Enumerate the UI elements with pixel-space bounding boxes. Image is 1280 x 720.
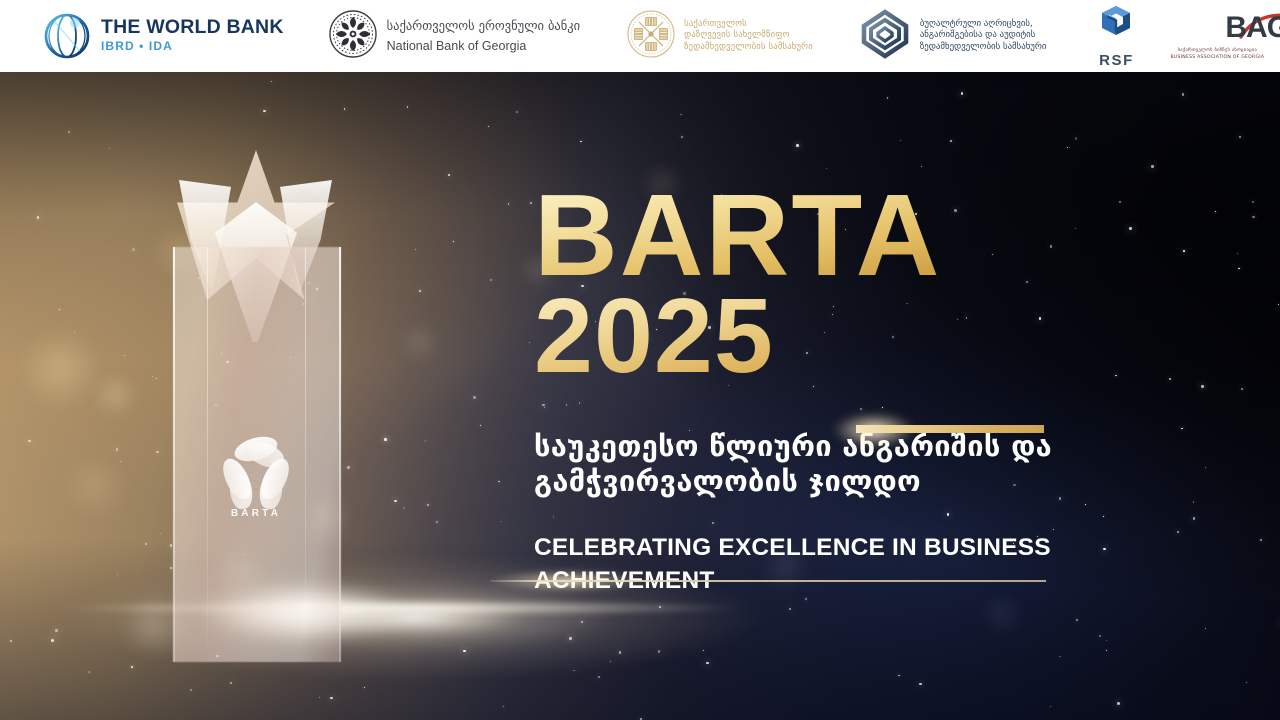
stacked-layers-icon: [859, 8, 911, 65]
globe-icon: [42, 11, 92, 61]
nbg-title-ka: საქართველოს ეროვნული ბანკი: [387, 18, 581, 33]
world-bank-subtitle: IBRD • IDA: [101, 39, 173, 53]
rosette-seal-icon: [328, 9, 378, 64]
section-divider: [490, 580, 1046, 582]
sarass-line-1: ბუღალტრული აღრიცხვის,: [920, 19, 1033, 29]
rsf-label: RSF: [1099, 52, 1134, 69]
bag-subtitle-ka: საქართველოს ბიზნეს ასოციაცია: [1178, 48, 1257, 53]
sponsor-logo-bar: THE WORLD BANK IBRD • IDA: [0, 0, 1280, 72]
hero-subtitle-ka-line-2: გამჭვირვალობის ჯილდო: [534, 464, 921, 498]
iss-text-block: საქართველოს დაზღვევის სახელმწიფო ზედამხე…: [684, 19, 813, 53]
trophy-facet-a: [207, 247, 208, 647]
hero-subtitle-ka: საუკეთესო წლიური ანგარიშის და გამჭვირვალ…: [534, 429, 1094, 500]
trophy-right-edge: [339, 247, 341, 662]
year-accent-rule: [856, 425, 1044, 433]
bag-subtitle-block: საქართველოს ბიზნეს ასოციაცია BUSINESS AS…: [1170, 48, 1264, 62]
hero-year: 2025: [534, 285, 1094, 389]
trophy-barta-emblem: BARTA: [217, 434, 295, 524]
blue-cube-icon: [1096, 4, 1136, 49]
sarass-line-2: ანგარიშგებისა და აუდიტის: [920, 30, 1035, 40]
logo-world-bank[interactable]: THE WORLD BANK IBRD • IDA: [42, 5, 284, 67]
emblem-petal-right-inner: [258, 472, 285, 511]
world-bank-title: THE WORLD BANK: [101, 16, 284, 38]
hero-banner: BARTA BARTA 2025 საუკეთესო წლიური ანგარი…: [0, 72, 1280, 720]
circular-emblem-icon: [626, 9, 676, 64]
bag-wordmark: BAG: [1225, 13, 1280, 43]
crystal-trophy: BARTA: [155, 142, 355, 662]
trophy-facet-b: [305, 247, 306, 647]
world-bank-text: THE WORLD BANK IBRD • IDA: [101, 18, 284, 54]
award-banner-screenshot: THE WORLD BANK IBRD • IDA: [0, 0, 1280, 720]
floor-light-streak: [0, 597, 900, 619]
iss-line-3: ზედამხედველობის სამსახური: [684, 42, 813, 52]
logo-insurance-supervision-service[interactable]: საქართველოს დაზღვევის სახელმწიფო ზედამხე…: [626, 5, 813, 67]
iss-line-1: საქართველოს: [684, 19, 747, 29]
emblem-petal-left-inner: [228, 472, 255, 511]
iss-line-2: დაზღვევის სახელმწიფო: [684, 30, 789, 40]
logo-accounting-supervision-service[interactable]: ბუღალტრული აღრიცხვის, ანგარიშგებისა და ა…: [859, 5, 1047, 67]
hero-title: BARTA: [534, 182, 1094, 289]
bag-subtitle-en: BUSINESS ASSOCIATION OF GEORGIA: [1170, 55, 1264, 60]
sarass-text-block: ბუღალტრული აღრიცხვის, ანგარიშგებისა და ა…: [920, 19, 1047, 53]
nbg-title-en: National Bank of Georgia: [387, 39, 527, 53]
hero-subtitle-en-line-1: CELEBRATING EXCELLENCE IN BUSINESS: [534, 534, 1051, 561]
logo-business-association-of-georgia[interactable]: BAG საქართველოს ბიზნეს ასოციაცია BUSINES…: [1170, 5, 1264, 67]
trophy-left-edge: [173, 247, 175, 662]
hero-subtitle-ka-line-1: საუკეთესო წლიური ანგარიშის და: [534, 429, 1052, 463]
nbg-text-block: საქართველოს ეროვნული ბანკი National Bank…: [387, 16, 581, 56]
logo-rsf[interactable]: RSF: [1096, 5, 1136, 67]
logo-national-bank-of-georgia[interactable]: საქართველოს ეროვნული ბანკი National Bank…: [328, 5, 581, 67]
sarass-line-3: ზედამხედველობის სამსახური: [920, 42, 1047, 52]
emblem-wordmark: BARTA: [217, 508, 295, 519]
hero-copy-block: BARTA 2025 საუკეთესო წლიური ანგარიშის და…: [534, 182, 1094, 597]
